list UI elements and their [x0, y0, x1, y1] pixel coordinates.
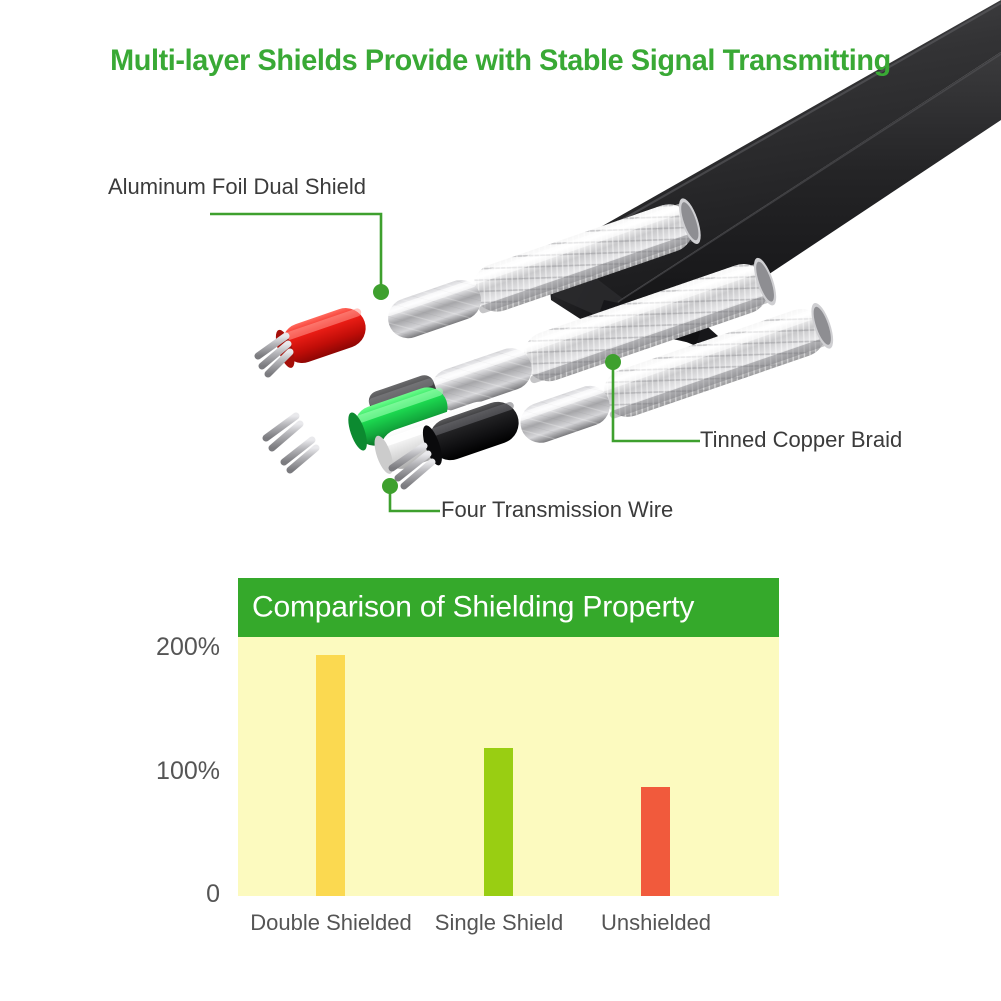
leader-aluminum-foil-dual-shield: [210, 214, 381, 287]
y-tick-100: 100%: [156, 757, 220, 786]
leader-tinned-copper-braid: [613, 368, 700, 441]
bar-single-shield: [484, 748, 513, 896]
leader-dot-four-transmission-wire: [382, 478, 398, 494]
x-label-single-shield: Single Shield: [435, 910, 563, 936]
leader-dot-aluminum-foil-dual-shield: [373, 284, 389, 300]
shielding-comparison-chart: Comparison of Shielding Property 200% 10…: [0, 545, 1001, 1001]
callout-label-aluminum-foil-dual-shield: Aluminum Foil Dual Shield: [108, 174, 366, 200]
chart-plot-area: [238, 637, 779, 896]
page-title: Multi-layer Shields Provide with Stable …: [20, 44, 981, 78]
bar-double-shielded: [316, 655, 345, 896]
leader-dot-tinned-copper-braid: [605, 354, 621, 370]
y-tick-0: 0: [206, 880, 220, 909]
callout-label-four-transmission-wire: Four Transmission Wire: [441, 497, 673, 523]
x-label-double-shielded: Double Shielded: [250, 910, 411, 936]
leader-four-transmission-wire: [390, 492, 440, 511]
chart-y-axis: 200% 100% 0: [0, 545, 220, 945]
infographic-page: Multi-layer Shields Provide with Stable …: [0, 0, 1001, 1001]
chart-title: Comparison of Shielding Property: [252, 590, 694, 624]
callout-label-tinned-copper-braid: Tinned Copper Braid: [700, 427, 902, 453]
x-label-unshielded: Unshielded: [601, 910, 711, 936]
callout-leader-lines: [0, 0, 1001, 560]
chart-title-banner: Comparison of Shielding Property: [238, 578, 779, 637]
y-tick-200: 200%: [156, 633, 220, 662]
bar-unshielded: [641, 787, 670, 896]
